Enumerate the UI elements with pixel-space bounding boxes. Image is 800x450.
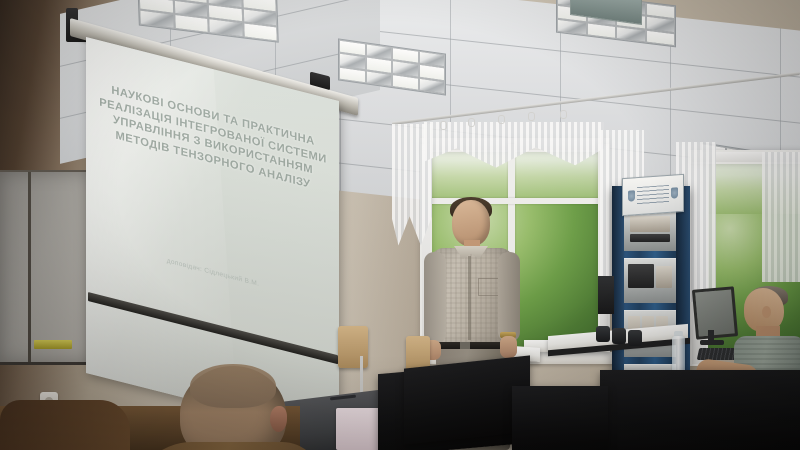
- curtain-ring-icon: [468, 118, 475, 127]
- foreground-ear: [270, 406, 287, 432]
- seated-ear: [762, 306, 771, 318]
- board-divider: [28, 172, 31, 362]
- writing-board: [0, 172, 94, 365]
- audience-member-foreground: [172, 366, 300, 450]
- presenter-left-arm: [424, 252, 446, 344]
- curtain-ring-icon: [560, 110, 567, 119]
- monitor-base: [700, 340, 724, 345]
- foreground-body: [0, 400, 130, 450]
- board-tray-item: [34, 340, 72, 349]
- photo-scene: НАУКОВІ ОСНОВИ ТА ПРАКТИЧНА РЕАЛІЗАЦІЯ І…: [0, 0, 800, 450]
- curtain-ring-icon: [440, 121, 447, 130]
- foreground-scalp: [190, 364, 276, 408]
- desk-speaker: [612, 328, 626, 344]
- curtain-ring-icon: [528, 112, 535, 121]
- monitor-rear-panel: [600, 370, 800, 450]
- presenter-right-arm: [498, 252, 520, 342]
- rack-side-module: [598, 276, 614, 314]
- presenter-placket: [468, 256, 471, 340]
- rack-label-plate: [622, 174, 684, 216]
- curtain-ring-icon: [498, 115, 505, 124]
- curtain-panel: [762, 152, 800, 282]
- chair[interactable]: [338, 326, 368, 368]
- desk-speaker: [628, 330, 642, 346]
- monitor-rear-panel: [512, 386, 608, 450]
- presenter-right-hand: [500, 336, 517, 358]
- desk-speaker: [596, 326, 610, 342]
- presenter-pocket: [478, 278, 500, 296]
